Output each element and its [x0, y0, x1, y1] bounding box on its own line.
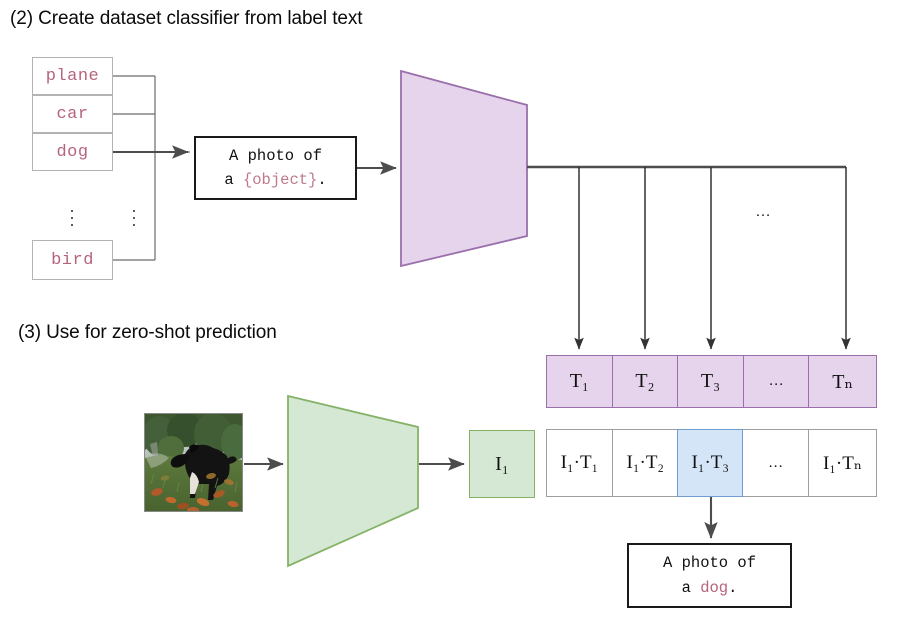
similarity-label-2: I₁·T₂: [627, 452, 665, 474]
label-list-ellipsis-left: ...: [62, 203, 82, 224]
prompt-slot: {object}: [243, 171, 317, 189]
text-embedding-row: T₁ T₂ T₃ … Tₙ: [546, 355, 877, 408]
prompt-template-box[interactable]: A photo of a {object}.: [194, 136, 357, 200]
label-text-plane: plane: [46, 67, 100, 86]
label-box-plane[interactable]: plane: [32, 57, 113, 95]
text-embedding-label-3: T₃: [701, 370, 720, 393]
text-embedding-drop-arrows: [579, 167, 846, 349]
text-embedding-cell-2[interactable]: T₂: [613, 356, 679, 407]
similarity-label-ellipsis: …: [768, 455, 783, 472]
prompt-line-2: a {object}.: [224, 168, 326, 192]
similarity-row: I₁·T₁ I₁·T₂ I₁·T₃ … I₁·Tₙ: [546, 429, 877, 497]
image-encoder-line2: Encoder: [321, 465, 384, 484]
prediction-line2-suffix: .: [728, 579, 737, 597]
input-photo[interactable]: [144, 413, 243, 512]
label-text-car: car: [56, 105, 88, 124]
step2-title: (2) Create dataset classifier from label…: [10, 8, 362, 30]
text-embedding-cell-1[interactable]: T₁: [547, 356, 613, 407]
bus-ellipsis: …: [755, 203, 772, 221]
similarity-cell-2[interactable]: I₁·T₂: [613, 430, 679, 496]
prediction-box: A photo of a dog.: [627, 543, 792, 608]
prompt-line2-prefix: a: [224, 171, 243, 189]
prediction-line-2: a dog.: [682, 576, 738, 600]
prediction-line-1: A photo of: [663, 551, 756, 575]
label-text-dog: dog: [56, 143, 88, 162]
text-embedding-label-1: T₁: [570, 370, 589, 393]
similarity-cell-n[interactable]: I₁·Tₙ: [809, 430, 876, 496]
diagram-connectors: [0, 0, 906, 624]
step3-title: (3) Use for zero-shot prediction: [18, 322, 277, 344]
similarity-cell-3-selected[interactable]: I₁·T₃: [677, 429, 743, 498]
similarity-label-1: I₁·T₁: [561, 452, 599, 474]
label-list-ellipsis-right: ...: [124, 203, 144, 224]
prompt-line2-suffix: .: [317, 171, 326, 189]
text-encoder-line2: Encoder: [432, 170, 495, 189]
dog-photo-illustration: [145, 414, 242, 511]
image-encoder-label: Image Encoder: [288, 442, 418, 486]
label-box-dog[interactable]: dog: [32, 133, 113, 171]
text-embedding-cell-ellipsis: …: [744, 356, 810, 407]
text-embedding-label-n: Tₙ: [832, 369, 853, 394]
prediction-slot: dog: [700, 579, 728, 597]
text-embedding-cell-3[interactable]: T₃: [678, 356, 744, 407]
text-embedding-cell-n[interactable]: Tₙ: [809, 356, 876, 407]
label-box-bird[interactable]: bird: [32, 240, 113, 280]
label-text-bird: bird: [51, 251, 94, 270]
text-embedding-label-2: T₂: [635, 370, 654, 393]
similarity-label-3: I₁·T₃: [692, 452, 730, 474]
text-encoder-line1: Text: [448, 148, 479, 167]
image-embedding-label: I₁: [495, 453, 509, 476]
similarity-cell-1[interactable]: I₁·T₁: [547, 430, 613, 496]
label-bus-lines: [113, 76, 190, 260]
similarity-cell-ellipsis: …: [743, 430, 809, 496]
text-encoder-label: Text Encoder: [401, 147, 527, 191]
text-embedding-label-ellipsis: …: [769, 373, 784, 390]
prompt-line-1: A photo of: [229, 144, 322, 168]
prediction-line2-prefix: a: [682, 579, 701, 597]
image-embedding-box[interactable]: I₁: [469, 430, 535, 498]
label-box-car[interactable]: car: [32, 95, 113, 133]
similarity-label-n: I₁·Tₙ: [823, 452, 862, 475]
clip-zero-shot-diagram: (2) Create dataset classifier from label…: [0, 0, 906, 624]
image-encoder-line1: Image: [329, 443, 376, 462]
